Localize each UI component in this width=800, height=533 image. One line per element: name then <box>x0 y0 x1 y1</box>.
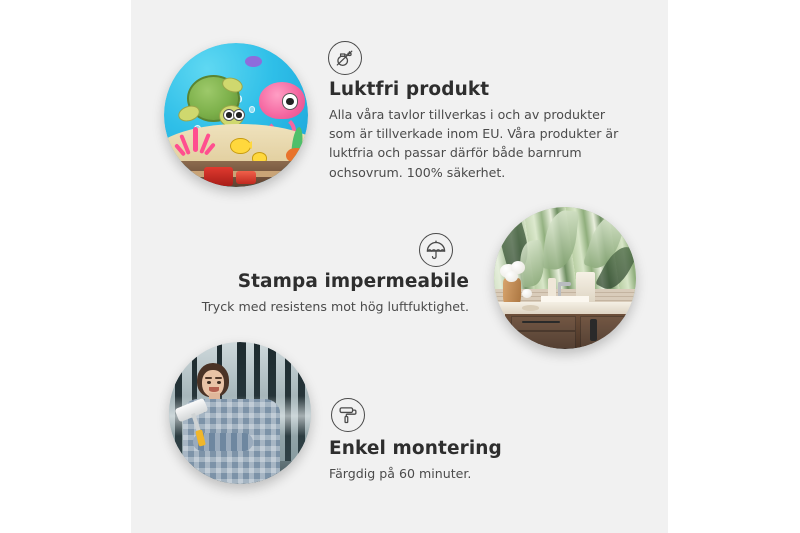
ph-layer-pupil <box>226 112 232 118</box>
feature-title: Luktfri produkt <box>329 78 629 101</box>
feature-body: Alla våra tavlor tillverkas i och av pro… <box>329 105 629 182</box>
feature-odour-free: Luktfri produkt Alla våra tavlor tillver… <box>131 0 668 200</box>
ph-layer-drawer <box>511 316 576 331</box>
paint-roller-icon <box>331 398 365 432</box>
feature-text-easy-installation: Enkel montering Färgdig på 60 minuter. <box>329 437 629 483</box>
photo-inner <box>164 43 308 187</box>
ph-layer-pupil <box>286 98 293 105</box>
ph-layer-brow <box>215 377 221 379</box>
feature-waterproof-print: Stampa impermeabile Tryck med resistens … <box>131 200 668 340</box>
feature-title: Enkel montering <box>329 437 629 460</box>
ph-layer-fish-tail <box>246 141 252 149</box>
ph-layer-handle <box>590 319 597 341</box>
ph-layer-bubble <box>249 106 255 112</box>
no-spray-bottle-icon <box>328 41 362 75</box>
feature-body: Tryck med resistens mot hög luftfuktighe… <box>131 297 469 316</box>
product-feature-panel: Luktfri produkt Alla våra tavlor tillver… <box>131 0 668 533</box>
feature-title: Stampa impermeabile <box>131 270 469 293</box>
feature-easy-installation: Enkel montering Färgdig på 60 minuter. <box>131 340 668 533</box>
ph-layer-eye <box>207 381 211 384</box>
feature-image-woman-with-roller <box>169 342 311 484</box>
ph-layer-pink-coral <box>177 122 214 158</box>
feature-image-bathroom <box>494 207 636 349</box>
feature-text-waterproof-print: Stampa impermeabile Tryck med resistens … <box>131 270 469 316</box>
ph-layer-pupil <box>236 112 242 118</box>
umbrella-icon <box>419 233 453 267</box>
feature-image-underwater-scene <box>164 43 308 187</box>
ph-layer-eye <box>217 381 221 384</box>
ph-layer-smile <box>209 387 219 391</box>
ph-layer-soap-dish <box>522 305 539 311</box>
ph-layer-red-object <box>204 167 233 186</box>
ph-layer-red-object <box>236 171 256 184</box>
ph-layer-octopus-eye <box>282 93 298 109</box>
ph-layer-bottle <box>548 278 557 298</box>
photo-inner <box>169 342 311 484</box>
feature-text-odour-free: Luktfri produkt Alla våra tavlor tillver… <box>329 78 629 182</box>
screenshot-root: Luktfri produkt Alla våra tavlor tillver… <box>0 0 800 533</box>
photo-inner <box>494 207 636 349</box>
feature-body: Färgdig på 60 minuter. <box>329 464 629 483</box>
ph-layer-brow <box>205 377 211 379</box>
